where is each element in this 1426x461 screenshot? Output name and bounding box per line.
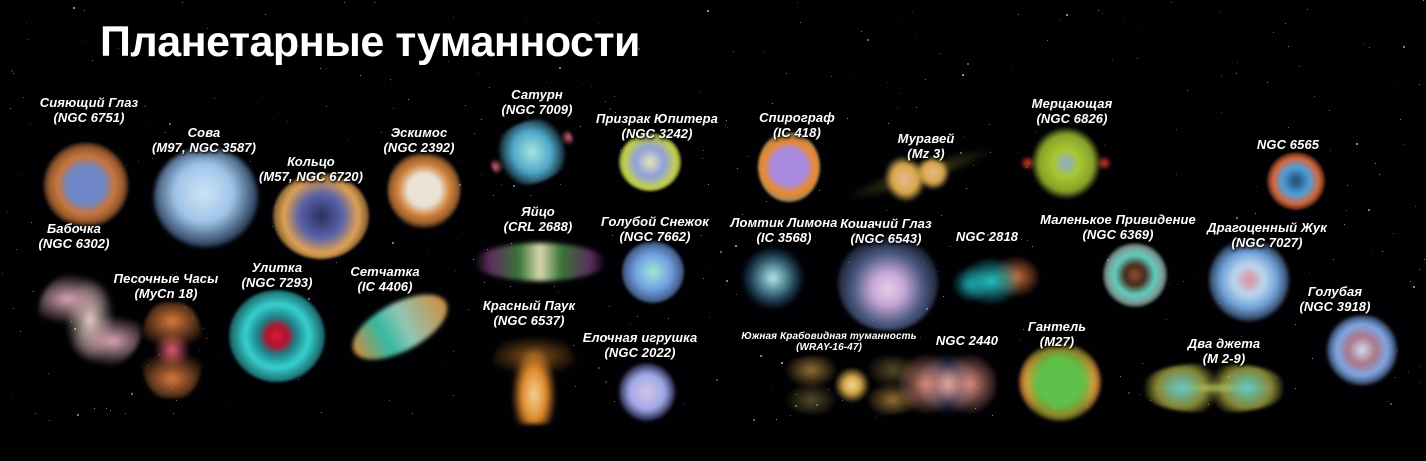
label-cats-eye: Кошачий Глаз(NGC 6543)	[840, 217, 931, 246]
label-ngc2818: NGC 2818	[956, 230, 1018, 245]
nebula-cats-eye	[838, 235, 938, 331]
nebula-ngc2440	[899, 350, 997, 418]
nebula-helix	[229, 290, 325, 382]
label-lemon-slice: Ломтик Лимона(IC 3568)	[730, 216, 837, 245]
label-ghost-of-jupiter: Призрак Юпитера(NGC 3242)	[596, 112, 718, 141]
label-jewel-bug: Драгоценный Жук(NGC 7027)	[1207, 221, 1327, 250]
nebula-christmas-toy	[619, 363, 675, 421]
nebula-owl	[154, 147, 258, 247]
label-butterfly: Бабочка(NGC 6302)	[38, 222, 109, 251]
nebula-blinking	[1018, 126, 1114, 200]
label-saturn: Сатурн(NGC 7009)	[501, 88, 572, 117]
nebula-retina	[343, 281, 457, 372]
nebula-jewel-bug	[1209, 239, 1289, 321]
nebula-two-jets	[1145, 364, 1283, 412]
nebula-dumbbell	[1019, 343, 1101, 421]
label-owl: Сова(M97, NGC 3587)	[152, 126, 256, 155]
label-little-ghost: Маленькое Привидение(NGC 6369)	[1040, 213, 1196, 242]
nebula-eskimo	[387, 151, 461, 229]
nebula-blue	[1327, 315, 1397, 385]
label-ngc6565: NGC 6565	[1257, 138, 1319, 153]
label-spirograph: Спирограф(IC 418)	[759, 111, 835, 140]
label-ngc2440: NGC 2440	[936, 334, 998, 349]
label-two-jets: Два джета(M 2-9)	[1188, 337, 1260, 366]
label-blue-snowball: Голубой Снежок(NGC 7662)	[601, 215, 709, 244]
label-ant: Муравей(Mz 3)	[898, 132, 955, 161]
nebula-shining-eye	[43, 142, 129, 228]
nebula-red-spider	[492, 332, 576, 424]
label-helix: Улитка(NGC 7293)	[241, 261, 312, 290]
page-title: Планетарные туманности	[100, 18, 640, 67]
label-shining-eye: Сияющий Глаз(NGC 6751)	[40, 96, 139, 125]
label-retina: Сетчатка(IC 4406)	[350, 265, 419, 294]
label-blinking: Мерцающая(NGC 6826)	[1032, 97, 1113, 126]
nebula-lemon-slice	[743, 248, 803, 308]
nebula-little-ghost	[1103, 243, 1167, 307]
label-egg: Яйцо(CRL 2688)	[504, 205, 573, 234]
nebula-ring	[273, 173, 369, 259]
label-ring: Кольцо(M57, NGC 6720)	[259, 155, 363, 184]
label-dumbbell: Гантель(M27)	[1028, 320, 1086, 349]
nebula-ngc6565	[1267, 152, 1325, 210]
planetary-nebulae-poster: Планетарные туманности Сияющий Глаз(NGC …	[0, 0, 1426, 461]
label-christmas-toy: Елочная игрушка(NGC 2022)	[583, 331, 698, 360]
nebula-ghost-of-jupiter	[619, 133, 681, 191]
nebula-spirograph	[758, 132, 820, 202]
label-blue: Голубая(NGC 3918)	[1299, 285, 1370, 314]
label-hourglass: Песочные Часы(MyCn 18)	[114, 272, 219, 301]
nebula-ngc2818	[953, 252, 1039, 308]
label-eskimo: Эскимос(NGC 2392)	[383, 126, 454, 155]
nebula-egg	[474, 243, 606, 281]
nebula-hourglass	[142, 302, 202, 398]
label-southern-crab: Южная Крабовидная туманность(WRAY-16-47)	[741, 331, 916, 353]
nebula-saturn	[481, 107, 584, 197]
nebula-blue-snowball	[622, 241, 684, 303]
label-red-spider: Красный Паук(NGC 6537)	[483, 299, 575, 328]
